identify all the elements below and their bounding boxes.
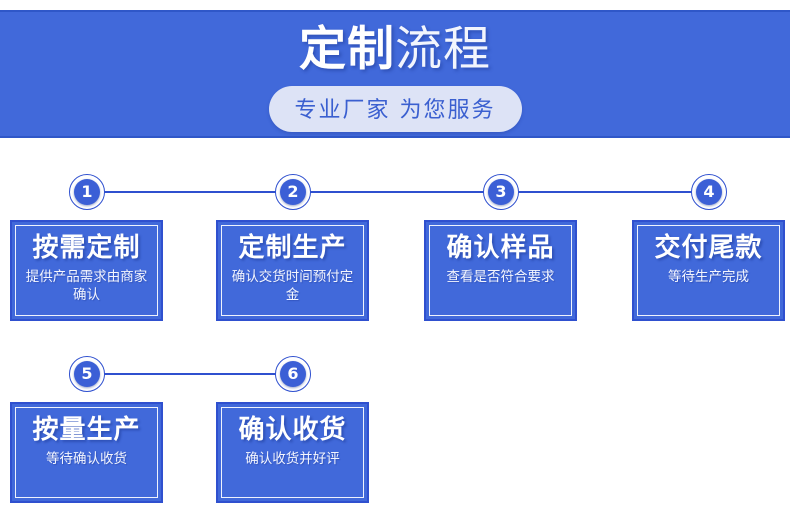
page-banner: 定制流程 专业厂家 为您服务 (0, 10, 790, 138)
step-card-3-desc: 查看是否符合要求 (437, 268, 565, 286)
page-title-light: 流程 (395, 22, 491, 77)
connector-line-row-1 (88, 191, 709, 193)
step-card-5-desc: 等待确认收货 (23, 450, 151, 468)
step-card-4: 交付尾款 等待生产完成 (632, 220, 785, 321)
step-badge-2-number: 2 (280, 179, 306, 205)
step-card-2: 定制生产 确认交货时间预付定金 (216, 220, 369, 321)
step-card-5: 按量生产 等待确认收货 (10, 402, 163, 503)
step-card-2-title: 定制生产 (238, 234, 346, 264)
step-card-4-desc: 等待生产完成 (645, 268, 773, 286)
step-badge-6: 6 (275, 356, 311, 392)
step-card-6: 确认收货 确认收货并好评 (216, 402, 369, 503)
step-badge-2: 2 (275, 174, 311, 210)
flow-row-2: 5 6 按量生产 等待确认收货 确认收货 确认收货并好评 (0, 320, 790, 500)
step-badge-1: 1 (69, 174, 105, 210)
step-badge-1-number: 1 (74, 179, 100, 205)
step-badge-6-number: 6 (280, 361, 306, 387)
step-badge-4: 4 (691, 174, 727, 210)
step-badge-3-number: 3 (488, 179, 514, 205)
step-badge-5-number: 5 (74, 361, 100, 387)
step-card-1-title: 按需定制 (32, 234, 140, 264)
step-badge-3: 3 (483, 174, 519, 210)
step-badge-5: 5 (69, 356, 105, 392)
flow-steps-section: 1 2 3 4 按需定制 提供产品需求由商家确认 定制生产 确认交货时间预付定金… (0, 138, 790, 516)
step-card-3: 确认样品 查看是否符合要求 (424, 220, 577, 321)
page-subtitle-pill: 专业厂家 为您服务 (269, 86, 522, 132)
step-card-2-desc: 确认交货时间预付定金 (229, 268, 357, 304)
step-card-6-title: 确认收货 (238, 416, 346, 446)
connector-line-row-2 (88, 373, 293, 375)
step-card-4-title: 交付尾款 (654, 234, 762, 264)
step-card-6-desc: 确认收货并好评 (229, 450, 357, 468)
page-title: 定制流程 (299, 24, 491, 77)
step-card-3-title: 确认样品 (446, 234, 554, 264)
step-card-1: 按需定制 提供产品需求由商家确认 (10, 220, 163, 321)
flow-row-1: 1 2 3 4 按需定制 提供产品需求由商家确认 定制生产 确认交货时间预付定金… (0, 138, 790, 320)
step-card-1-desc: 提供产品需求由商家确认 (23, 268, 151, 304)
step-card-5-title: 按量生产 (32, 416, 140, 446)
page-title-strong: 定制 (299, 22, 395, 77)
step-badge-4-number: 4 (696, 179, 722, 205)
